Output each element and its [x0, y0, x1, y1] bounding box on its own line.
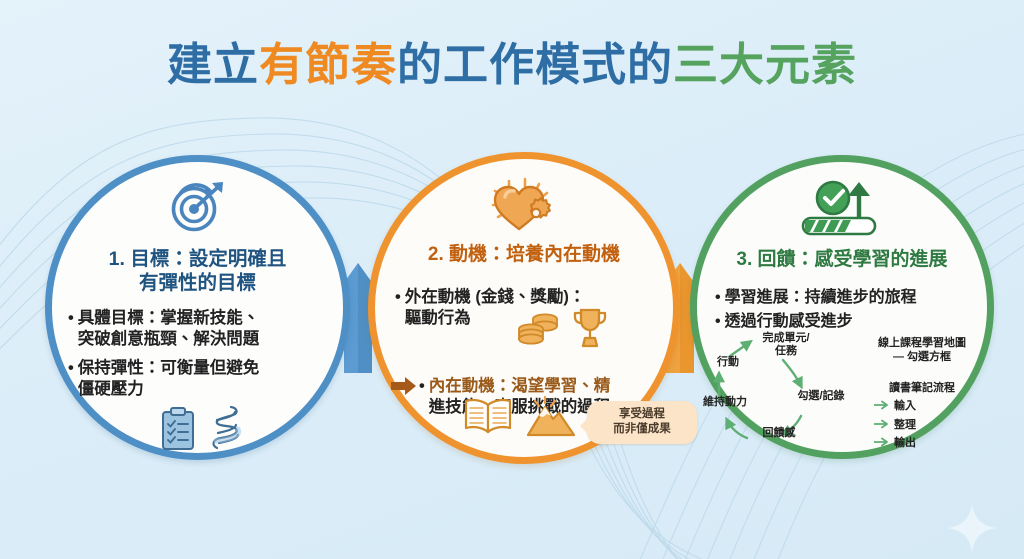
target-dartboard-arrow-icon [52, 178, 343, 241]
cycle-node-complete-line2: 任務 [749, 345, 823, 358]
sidebox-flow-item-label: 輸出 [894, 434, 916, 450]
bullet-line1: 學習進展：持續進步的旅程 [725, 288, 969, 309]
speech-bubble-enjoy-process: 享受過程 而非僅成果 [587, 401, 697, 444]
card-goal-heading: 1. 目標：設定明確且 有彈性的目標 [52, 248, 343, 296]
spring-coil-icon [207, 405, 247, 451]
sidebox-flow-item: 輸入 [874, 397, 988, 413]
bullet-dot-icon: • [715, 312, 721, 333]
sidebox-title-line1: 線上課程學習地圖 [856, 336, 988, 350]
card-goal[interactable]: 1. 目標：設定明確且 有彈性的目標 • 具體目標：掌握新技能、 突破創意瓶頸、… [45, 155, 350, 460]
cycle-node-feedback-feeling: 回饋感 [749, 427, 809, 440]
title-segment-4: 三大元素 [673, 39, 857, 90]
bullet-line1: 外在動機 (金錢、獎勵)： [405, 288, 586, 306]
sidebox-flow-item: 整理 [874, 416, 988, 432]
card-motivation-heading: 2. 動機：培養內在動機 [375, 243, 673, 266]
cycle-node-record: 勾選/記錄 [781, 390, 861, 403]
bullet-dot-icon: • [419, 376, 425, 397]
coins-stack-icon [517, 309, 561, 349]
arrow-right-icon [874, 400, 890, 410]
title-segment-2: 有節奏 [259, 39, 397, 90]
sidebox-title: 線上課程學習地圖 — 勾選方框 [856, 336, 988, 365]
cycle-node-complete: 完成單元/ 任務 [749, 332, 823, 359]
infographic-canvas: 建立有節奏的工作模式的三大元素 [0, 0, 1024, 559]
mountain-peak-icon [525, 395, 577, 439]
bullet-line1: 內在動機：渴望學習、精 [429, 377, 611, 395]
bubble-line1: 享受過程 [594, 407, 690, 422]
arrow-right-icon [874, 419, 890, 429]
arrow-right-icon [874, 437, 890, 447]
sidebox-title-line2: — 勾選方框 [856, 350, 988, 364]
highlight-arrow-icon [391, 377, 417, 395]
card-motivation-heading-line1: 2. 動機：培養內在動機 [385, 243, 663, 266]
cycle-node-complete-line1: 完成單元/ [749, 332, 823, 345]
title-segment-3: 的工作模式的 [397, 39, 673, 90]
sidebox-flow-item-label: 輸入 [894, 397, 916, 413]
card-feedback-bullets: • 學習進展：持續進步的旅程 • 透過行動感受進步 [697, 288, 987, 336]
bullet-item: • 學習進展：持續進步的旅程 [715, 288, 969, 309]
card-feedback-heading-line1: 3. 回饋：感受學習的進展 [705, 248, 979, 271]
bullet-line2: 驅動行為 [405, 309, 471, 327]
clipboard-checklist-icon [160, 407, 196, 451]
card-goal-bullets: • 具體目標：掌握新技能、 突破創意瓶頸、解決問題 • 保持彈性：可衡量但避免 … [52, 308, 343, 408]
trophy-icon [571, 307, 609, 349]
sidebox-flow-title: 讀書筆記流程 [856, 381, 988, 395]
feedback-cycle-diagram: 行動 完成單元/ 任務 勾選/記錄 回饋感 維持動力 [705, 334, 875, 456]
heart-gear-icon [375, 177, 673, 240]
bullet-dot-icon: • [68, 358, 74, 379]
sidebox-flow-item: 輸出 [874, 434, 988, 450]
bubble-line2: 而非僅成果 [594, 422, 690, 437]
sidebox-flow-item-label: 整理 [894, 416, 916, 432]
bullet-item: • 透過行動感受進步 [715, 312, 969, 333]
bullet-line2: 僵硬壓力 [78, 380, 144, 398]
bullet-item: • 保持彈性：可衡量但避免 僵硬壓力 [68, 358, 327, 401]
card-goal-heading-line2: 有彈性的目標 [66, 272, 329, 296]
bullet-dot-icon: • [715, 288, 721, 309]
feedback-sidebox: 線上課程學習地圖 — 勾選方框 讀書筆記流程 輸入 整理 輸出 [856, 336, 988, 450]
open-book-icon [463, 397, 513, 437]
bullet-line1: 保持彈性：可衡量但避免 [78, 359, 260, 377]
bullet-dot-icon: • [395, 287, 401, 308]
card-goal-heading-line1: 1. 目標：設定明確且 [66, 248, 329, 272]
bullet-item: • 具體目標：掌握新技能、 突破創意瓶頸、解決問題 [68, 308, 327, 351]
card-feedback-heading: 3. 回饋：感受學習的進展 [697, 248, 987, 271]
title-segment-1: 建立 [167, 39, 259, 90]
sparkle-star-icon [944, 500, 1000, 556]
cycle-node-sustain-motivation: 維持動力 [687, 396, 763, 409]
bullet-dot-icon: • [68, 308, 74, 329]
bullet-line1: 透過行動感受進步 [725, 312, 969, 333]
bullet-line2: 突破創意瓶頸、解決問題 [78, 330, 260, 348]
page-title: 建立有節奏的工作模式的三大元素 [0, 42, 1024, 87]
bullet-line1: 具體目標：掌握新技能、 [78, 309, 260, 327]
bullet-line2: 進技能、克服挑戰的過程 [429, 398, 611, 416]
progress-bar-check-arrow-icon [697, 178, 987, 243]
